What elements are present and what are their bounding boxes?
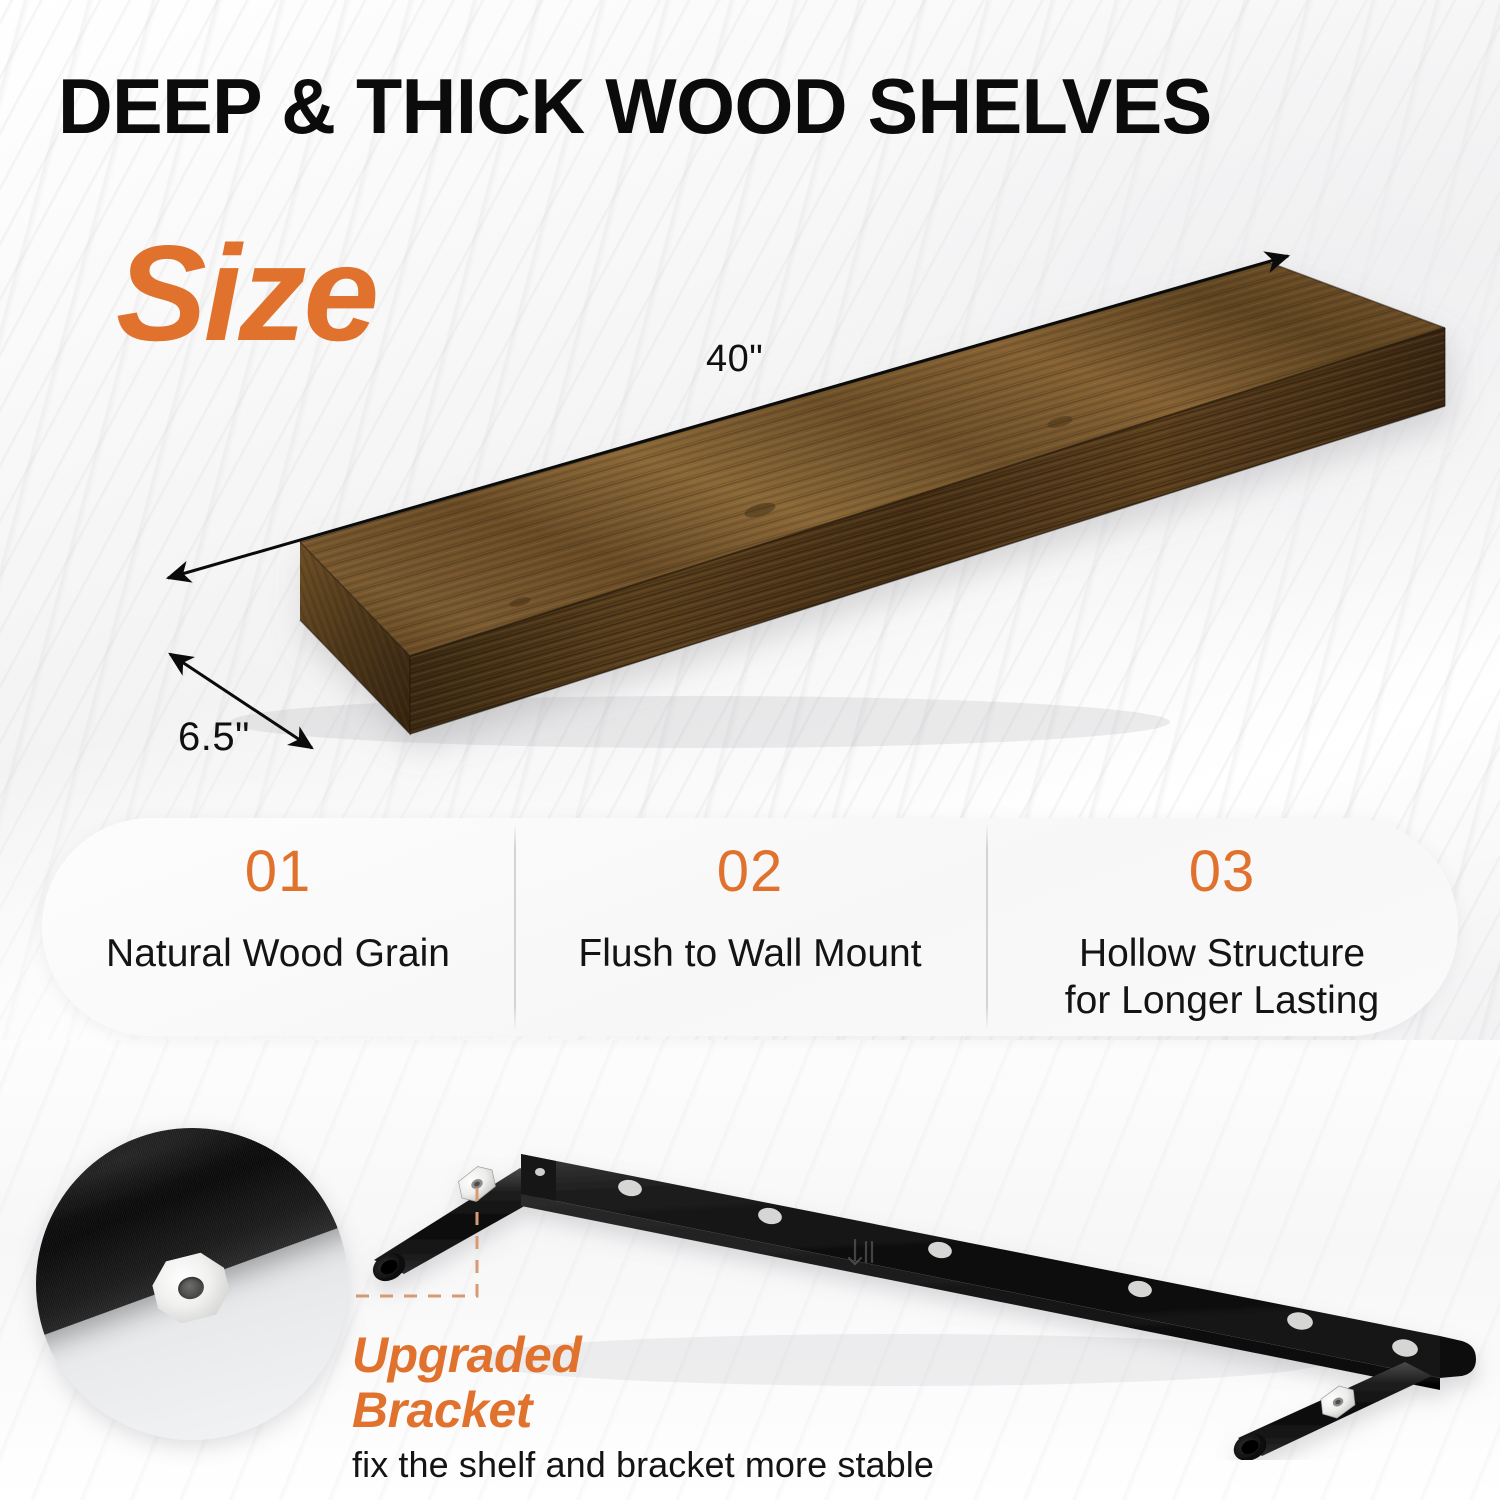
feature-label: Hollow Structure for Longer Lasting xyxy=(1065,930,1379,1024)
feature-number: 03 xyxy=(1189,840,1256,904)
upgraded-bracket-title: Upgraded Bracket xyxy=(352,1328,581,1438)
infographic-root: DEEP & THICK WOOD SHELVES Size xyxy=(0,0,1500,1500)
page-title: DEEP & THICK WOOD SHELVES xyxy=(58,62,1416,150)
feature-item-03[interactable]: 03 Hollow Structure for Longer Lasting xyxy=(986,818,1458,1036)
feature-label: Natural Wood Grain xyxy=(106,930,450,977)
depth-dimension-label: 6.5" xyxy=(178,715,250,760)
feature-card: 01 Natural Wood Grain 02 Flush to Wall M… xyxy=(42,818,1458,1036)
feature-item-01[interactable]: 01 Natural Wood Grain xyxy=(42,818,514,1036)
feature-number: 01 xyxy=(245,840,312,904)
bracket-section: Upgraded Bracket fix the shelf and brack… xyxy=(0,1060,1500,1500)
length-dimension-label: 40" xyxy=(706,338,763,381)
feature-number: 02 xyxy=(717,840,784,904)
magnified-nut-hole xyxy=(176,1274,207,1302)
feature-item-02[interactable]: 02 Flush to Wall Mount xyxy=(514,818,986,1036)
upgraded-bracket-subtitle: fix the shelf and bracket more stable xyxy=(352,1444,934,1486)
feature-label: Flush to Wall Mount xyxy=(578,930,921,977)
bracket-detail-magnifier xyxy=(36,1128,348,1440)
wood-shelf-illustration xyxy=(0,210,1500,790)
